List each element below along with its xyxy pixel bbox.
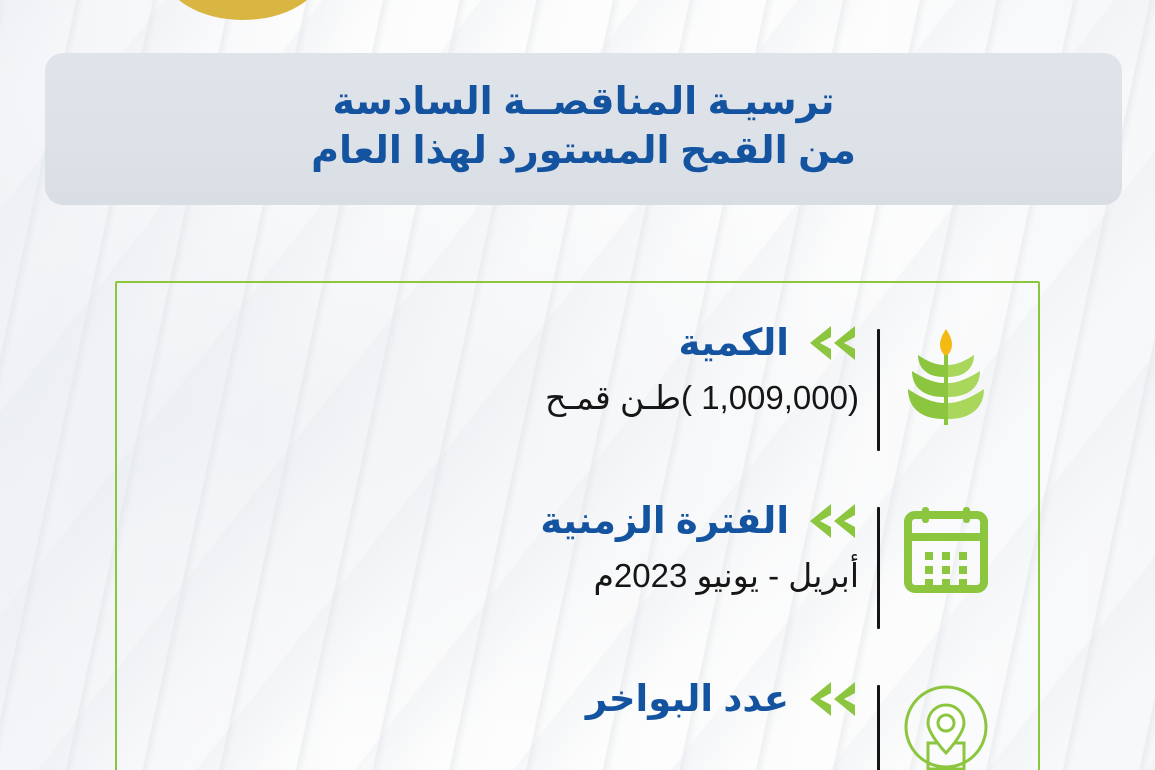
info-row-quantity-value: (1,009,000 )طـن قمـح [545,379,859,417]
info-row-period: الفترة الزمنية أبريل - يونيو 2023م [115,477,1040,655]
wheat-icon-svg [900,325,992,429]
info-row-quantity-body: الكمية (1,009,000 )طـن قمـح [115,299,859,417]
info-row-period-body: الفترة الزمنية أبريل - يونيو 2023م [115,477,859,595]
title-banner: ترسيـة المناقصــة السادسة من القمح المست… [45,53,1122,205]
double-chevron-left-icon-svg [805,679,859,719]
page-title-line-2: من القمح المستورد لهذا العام [311,127,856,176]
info-row-ships-head: عدد البواخر [586,679,859,719]
gold-circle-logo-partial [163,0,323,20]
info-row-quantity: الكمية (1,009,000 )طـن قمـح [115,299,1040,477]
double-chevron-left-icon-svg [805,501,859,541]
double-chevron-left-icon [805,679,859,719]
calendar-icon [890,477,1002,595]
double-chevron-left-icon-svg [805,323,859,363]
info-row-period-head: الفترة الزمنية [540,501,859,541]
page-title-line-1: ترسيـة المناقصــة السادسة [333,78,835,127]
info-row-quantity-head: الكمية [679,323,859,363]
row-divider [877,329,880,451]
info-row-period-value: أبريل - يونيو 2023م [593,557,859,595]
location-pin-circle-icon [890,655,1002,770]
info-row-period-title: الفترة الزمنية [540,502,789,541]
info-row-ships-title: عدد البواخر [586,680,789,719]
row-divider [877,507,880,629]
infographic-page: ترسيـة المناقصــة السادسة من القمح المست… [0,0,1155,770]
wheat-icon [890,299,1002,429]
double-chevron-left-icon [805,323,859,363]
row-divider [877,685,880,770]
location-pin-circle-icon-svg [900,681,992,770]
info-row-ships-body: عدد البواخر [115,655,859,735]
content-rows: الكمية (1,009,000 )طـن قمـح [115,281,1040,770]
info-row-ships: عدد البواخر [115,655,1040,770]
double-chevron-left-icon [805,501,859,541]
info-row-quantity-title: الكمية [679,324,789,363]
calendar-icon-svg [900,503,992,595]
